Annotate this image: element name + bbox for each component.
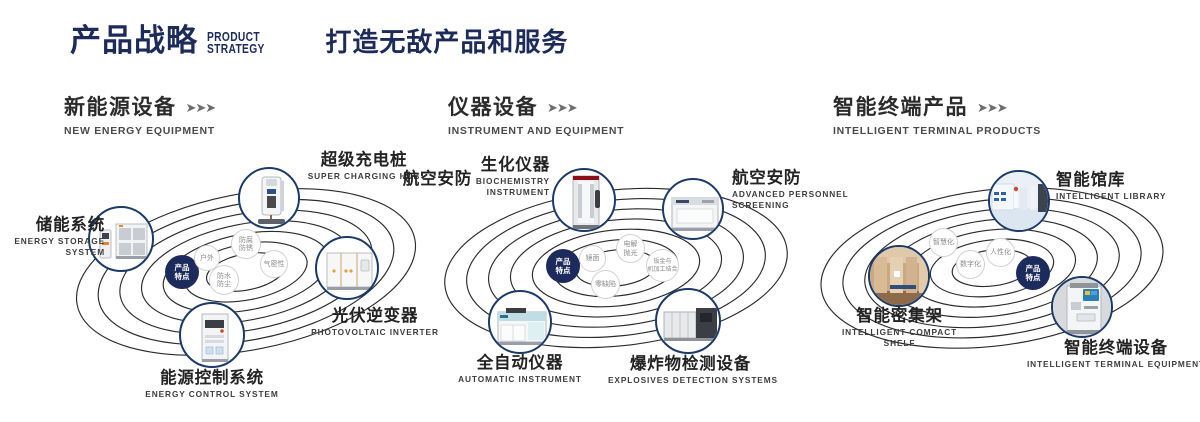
feature-line1: 电解 xyxy=(624,240,638,249)
label-energy-control-system: 能源控制系统 ENERGY CONTROL SYSTEM xyxy=(122,368,302,400)
label-en-line1: AUTOMATIC INSTRUMENT xyxy=(450,374,590,385)
label-intelligent-compact-shelf: 智能密集架 INTELLIGENT COMPACT SHELF xyxy=(822,306,977,348)
node-energy-control-system[interactable] xyxy=(179,302,245,368)
feature-text: 气密性 xyxy=(264,260,285,269)
self-service-kiosk-icon xyxy=(1053,278,1111,336)
label-en-line1: ENERGY STORAGE xyxy=(10,236,105,247)
feature-line2: 防锈 xyxy=(239,244,253,253)
diagram-instrument: 生化仪器 BIOCHEMISTRY INSTRUMENT 航空安防 航空安防 A… xyxy=(420,150,810,390)
label-explosives-detection-systems: 爆炸物检测设备 EXPLOSIVES DETECTION SYSTEMS xyxy=(608,354,773,386)
node-explosives-detection-systems[interactable] xyxy=(655,288,721,354)
label-en-line1: ENERGY CONTROL SYSTEM xyxy=(122,389,302,400)
chevron-right-icon: ➤➤➤ xyxy=(977,100,1007,116)
label-intelligent-library: 智能馆库 INTELLIGENT LIBRARY xyxy=(1056,170,1200,202)
feature-electrolytic-polishing[interactable]: 电解 抛光 xyxy=(616,234,645,263)
feature-digitalization[interactable]: 数字化 xyxy=(956,250,985,279)
label-en-line1: INTELLIGENT LIBRARY xyxy=(1056,191,1200,202)
label-cn: 智能终端设备 xyxy=(1026,338,1200,357)
diagram-intelligent-terminal: 智能馆库 INTELLIGENT LIBRARY 智能密集架 INTELLIGE… xyxy=(800,150,1190,390)
node-super-charging-hub[interactable] xyxy=(238,167,300,229)
screening-machine-icon xyxy=(664,180,722,238)
feature-text: 数字化 xyxy=(960,260,981,269)
feature-text: 智慧化 xyxy=(933,238,954,247)
feature-airtightness[interactable]: 气密性 xyxy=(260,250,288,278)
label-en-line1: INTELLIGENT TERMINAL EQUIPMENT xyxy=(1026,359,1200,370)
section-title-cn: 新能源设备 xyxy=(64,97,177,118)
section-title-intelligent-terminal: 智能终端产品 ➤➤➤ INTELLIGENT TERMINAL PRODUCTS xyxy=(833,97,1041,137)
label-en-line1: EXPLOSIVES DETECTION SYSTEMS xyxy=(608,375,773,386)
feature-line1: 防水 xyxy=(217,272,231,281)
label-cn: 航空安防 xyxy=(382,169,472,188)
label-en-line2: INSTRUMENT xyxy=(410,187,550,198)
chevron-right-icon: ➤➤➤ xyxy=(186,100,216,116)
label-cn: 能源控制系统 xyxy=(122,368,302,387)
explosives-detector-icon xyxy=(657,290,719,352)
feature-waterproof-dustproof[interactable]: 防水 防尘 xyxy=(209,265,239,295)
feature-line1: 防腐 xyxy=(239,236,253,245)
feature-anti-corrosion[interactable]: 防腐 防锈 xyxy=(231,229,261,259)
label-en-line1: INTELLIGENT COMPACT xyxy=(822,327,977,338)
automatic-analyzer-icon xyxy=(490,292,550,352)
security-gate-icon xyxy=(554,170,614,230)
label-cn: 爆炸物检测设备 xyxy=(608,354,773,373)
label-en-line2: SHELF xyxy=(822,338,977,349)
section-title-cn: 仪器设备 xyxy=(448,97,538,118)
page-header: 产品战略 PRODUCT STRATEGY 打造无敌产品和服务 xyxy=(70,26,568,57)
feature-text: 户外 xyxy=(200,254,214,263)
section-title-en: INSTRUMENT AND EQUIPMENT xyxy=(448,125,624,137)
section-title-instrument: 仪器设备 ➤➤➤ INSTRUMENT AND EQUIPMENT xyxy=(448,97,624,137)
page-subtitle: 打造无敌产品和服务 xyxy=(325,30,568,57)
page-title: 产品战略 xyxy=(70,26,198,57)
section-title-new-energy: 新能源设备 ➤➤➤ NEW ENERGY EQUIPMENT xyxy=(64,97,215,137)
section-title-en: INTELLIGENT TERMINAL PRODUCTS xyxy=(833,125,1041,137)
label-aviation-security-left: 航空安防 xyxy=(382,169,472,188)
label-intelligent-terminal-equipment: 智能终端设备 INTELLIGENT TERMINAL EQUIPMENT xyxy=(1026,338,1200,370)
label-energy-storage-system: 储能系统 ENERGY STORAGE SYSTEM xyxy=(10,215,105,257)
library-room-icon xyxy=(990,172,1048,230)
label-cn: 智能馆库 xyxy=(1056,170,1200,189)
node-automatic-instrument[interactable] xyxy=(488,290,552,354)
feature-line2: 特点 xyxy=(1026,273,1041,282)
page-title-english: PRODUCT STRATEGY xyxy=(207,31,265,57)
pv-inverter-cabinet-icon xyxy=(317,238,377,298)
feature-line2: 特点 xyxy=(556,266,571,275)
section-title-en: NEW ENERGY EQUIPMENT xyxy=(64,125,215,137)
node-advanced-personnel-screening[interactable] xyxy=(662,178,724,240)
control-cabinet-icon xyxy=(181,304,243,366)
feature-line2: 特点 xyxy=(175,272,190,281)
section-title-cn: 智能终端产品 xyxy=(833,97,968,118)
feature-text: 人性化 xyxy=(990,248,1011,257)
node-biochemistry-instrument[interactable] xyxy=(552,168,616,232)
feature-line2: 抛光 xyxy=(624,249,638,258)
feature-zero-defect[interactable]: 零缺陷 xyxy=(591,270,620,299)
chevron-right-icon: ➤➤➤ xyxy=(547,100,577,116)
feature-line2: 机加工结合 xyxy=(647,266,677,274)
feature-line1: 产品 xyxy=(556,257,571,266)
feature-text: 镜面 xyxy=(586,254,600,263)
node-intelligent-compact-shelf[interactable] xyxy=(868,245,930,307)
feature-humanization[interactable]: 人性化 xyxy=(986,238,1015,267)
label-cn: 储能系统 xyxy=(10,215,105,234)
feature-line2: 防尘 xyxy=(217,280,231,289)
feature-text: 零缺陷 xyxy=(595,280,616,289)
feature-core-product-characteristics[interactable]: 产品 特点 xyxy=(1016,256,1050,290)
node-intelligent-terminal-equipment[interactable] xyxy=(1051,276,1113,338)
feature-mirror-finish[interactable]: 镜面 xyxy=(579,245,606,272)
feature-intelligence[interactable]: 智慧化 xyxy=(929,228,958,257)
label-cn: 智能密集架 xyxy=(822,306,977,325)
label-automatic-instrument: 全自动仪器 AUTOMATIC INSTRUMENT xyxy=(450,353,590,385)
feature-line1: 产品 xyxy=(1026,264,1041,273)
compact-shelf-icon xyxy=(870,247,928,305)
feature-line1: 产品 xyxy=(175,263,190,272)
feature-core-product-characteristics[interactable]: 产品 特点 xyxy=(546,249,580,283)
charging-pile-icon xyxy=(240,169,298,227)
page-title-english-line2: STRATEGY xyxy=(207,43,265,55)
feature-line1: 钣金与 xyxy=(653,258,671,266)
node-intelligent-library[interactable] xyxy=(988,170,1050,232)
node-photovoltaic-inverter[interactable] xyxy=(315,236,379,300)
label-cn: 全自动仪器 xyxy=(450,353,590,372)
feature-sheet-metal-machining[interactable]: 钣金与 机加工结合 xyxy=(646,249,679,282)
label-en-line2: SYSTEM xyxy=(10,247,105,258)
